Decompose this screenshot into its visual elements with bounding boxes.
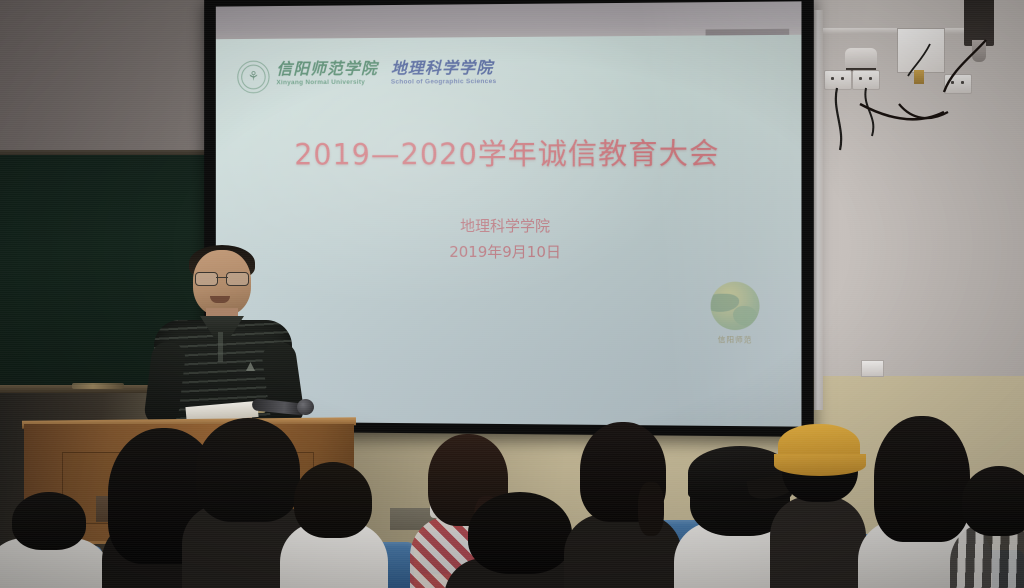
slide-subtitle-date: 2019年9月10日 [216,239,802,266]
audience-hair [962,466,1024,536]
projected-desktop-band [216,1,802,40]
chalk-pieces [72,383,124,389]
speaker-cone [972,40,986,62]
university-name-en: Xinyang Normal University [276,80,378,87]
wall-conduit-vertical [814,10,823,410]
audience-hair [874,416,970,542]
lecture-hall-scene: ⚘ 信阳师范学院 Xinyang Normal University 地理科学学… [0,0,1024,588]
junction-box [897,28,945,73]
audience-hair [196,418,300,522]
bucket-hat-brim [774,454,866,476]
presenter-placket [218,332,223,362]
audience-body [770,496,866,588]
school-name-en: School of Geographic Sciences [391,79,497,86]
audience-hair [294,462,372,538]
audience [0,400,1024,588]
globe-icon [711,282,760,331]
power-outlet-b[interactable] [852,70,880,90]
slide-logo: ⚘ 信阳师范学院 Xinyang Normal University 地理科学学… [237,59,496,93]
university-name-block: 信阳师范学院 Xinyang Normal University [276,61,378,87]
presentation-slide: ⚘ 信阳师范学院 Xinyang Normal University 地理科学学… [216,35,802,427]
school-name-block: 地理科学学院 School of Geographic Sciences [391,60,497,86]
audience-body [564,514,682,588]
school-name-cn: 地理科学学院 [391,60,497,77]
audience-hair [12,492,86,550]
presenter-glasses [195,272,249,284]
power-outlet-lower[interactable] [861,360,884,377]
slide-subtitle: 地理科学学院 2019年9月10日 [216,213,802,266]
projector-screen-surface: ⚘ 信阳师范学院 Xinyang Normal University 地理科学学… [216,1,802,426]
watermark-caption: 信阳师范 [704,334,767,345]
seal-glyph: ⚘ [238,62,268,93]
power-outlet-c[interactable] [944,74,972,94]
audience-hair [468,492,572,574]
earth-watermark: 信阳师范 [704,282,767,345]
audience-ponytail [638,482,664,536]
junction-box-tab [914,70,924,84]
power-outlet-a[interactable] [824,70,852,90]
slide-title: 2019—2020学年诚信教育大会 [216,130,802,174]
university-seal-icon: ⚘ [237,61,269,94]
slide-subtitle-org: 地理科学学院 [216,213,802,239]
university-name-cn: 信阳师范学院 [276,61,378,78]
